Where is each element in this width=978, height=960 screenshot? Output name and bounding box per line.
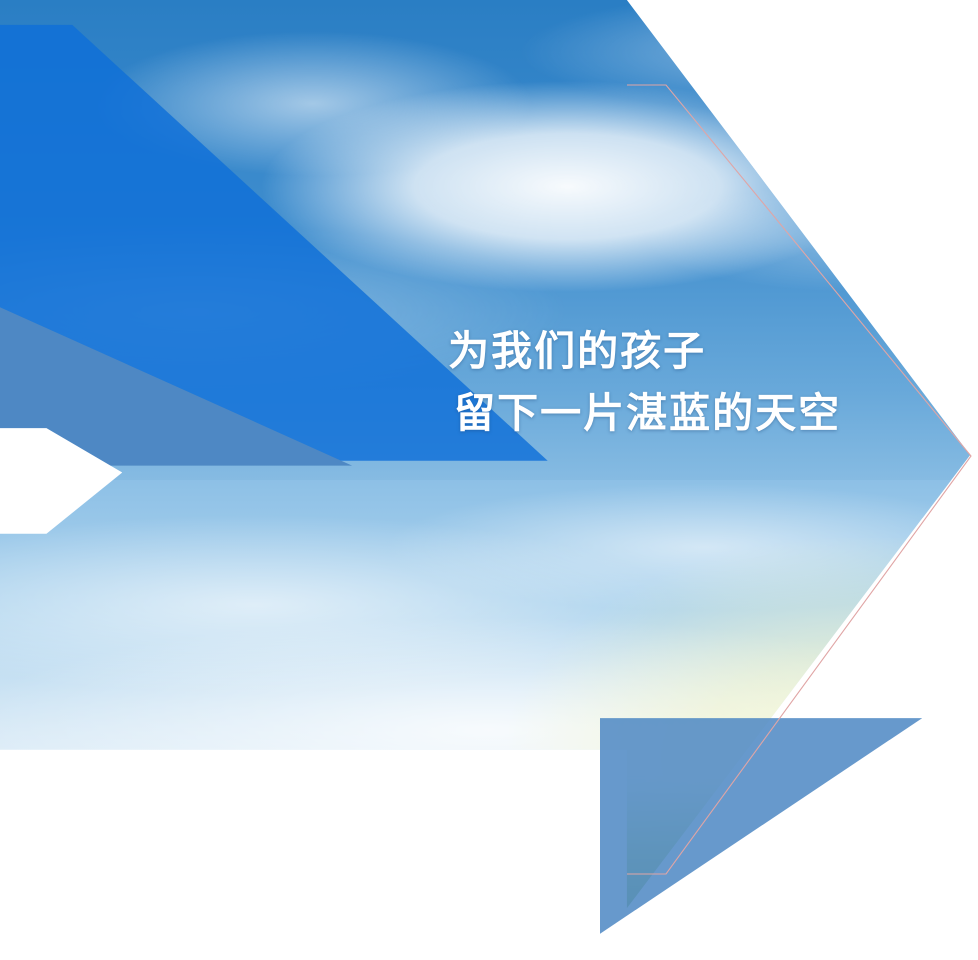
grass-blade [294, 736, 400, 960]
grass-blade [954, 538, 978, 960]
grass-blade [155, 856, 197, 960]
grass-blade [801, 835, 864, 960]
grass-blade [337, 821, 411, 960]
grass-blade [877, 867, 908, 960]
grass-blade [505, 860, 539, 960]
grass-blade [948, 836, 978, 960]
grass-blade [335, 727, 407, 960]
grass-blade [762, 862, 801, 960]
grass-blade [0, 565, 4, 960]
grass-blade [56, 862, 109, 960]
grass-blade [945, 738, 978, 960]
grass-blade [430, 822, 501, 960]
grass-blade [901, 787, 967, 960]
grass-blade [15, 845, 55, 960]
grass-blade [66, 872, 115, 960]
grass-blade [835, 599, 864, 960]
grass-blade [197, 851, 258, 960]
grass-blade [789, 835, 801, 960]
grass-blade [102, 725, 208, 960]
grass-blade [806, 761, 905, 960]
grass-blade [489, 759, 546, 960]
grass-blade [355, 782, 407, 960]
grass-blade [307, 756, 316, 960]
grass-blade [178, 732, 190, 960]
grass-blade [459, 547, 482, 960]
grass-blade [493, 598, 517, 960]
grass-blade [303, 607, 391, 960]
grass-blade [84, 538, 97, 960]
grass-blade [400, 848, 410, 960]
grass-blade [24, 804, 77, 960]
grass-blade [280, 865, 317, 960]
grass-blade [13, 691, 134, 960]
grass-blade [515, 716, 599, 960]
grass-blade [899, 852, 944, 960]
grass-blade [553, 800, 570, 960]
grass-blade [962, 875, 978, 960]
grass-blade [133, 822, 176, 960]
grass-blade [246, 667, 333, 960]
grass-blade [396, 850, 433, 960]
promo-banner: 为我们的孩子 留下一片湛蓝的天空 [0, 0, 978, 960]
grass-blade [168, 588, 263, 960]
grass-blade [904, 819, 969, 960]
grass-blade [18, 552, 133, 960]
grass-blade [179, 874, 228, 960]
grass-blade [302, 872, 355, 960]
grass-blade [90, 773, 152, 960]
grass-blade [883, 778, 904, 960]
grass-blade [859, 564, 978, 960]
grass-blade [271, 858, 277, 960]
grass-blade [323, 538, 338, 960]
grass-blade [811, 820, 880, 960]
grass-blade [29, 867, 37, 960]
grass-blade [0, 749, 68, 960]
grass-blade [906, 612, 978, 960]
grass-blade [920, 612, 978, 960]
grass-blade [226, 804, 271, 960]
grass-blade [712, 862, 772, 960]
grass-blade [547, 861, 598, 960]
grass-blade [509, 834, 525, 960]
grass-blade [899, 558, 978, 960]
grass-blade [449, 543, 553, 960]
grass-blade [532, 870, 571, 960]
grass-blade [0, 794, 36, 960]
grass-blade [122, 669, 135, 960]
grass-blade [221, 750, 289, 960]
grass-blade [313, 837, 382, 960]
grass-blade [241, 554, 416, 960]
grass-blade [416, 779, 428, 960]
grass-blade [477, 839, 541, 960]
grass-blade [439, 868, 489, 960]
grass-blade [103, 782, 188, 960]
grass-blade [851, 870, 904, 960]
grass-blade [221, 802, 304, 960]
headline-line-2: 留下一片湛蓝的天空 [0, 382, 841, 444]
grass-blade [261, 838, 298, 960]
grass-blade [145, 713, 257, 960]
grass-blade [137, 864, 148, 960]
grass-blade [392, 870, 426, 960]
grass-blade [117, 822, 163, 960]
grass-blade [919, 723, 976, 960]
grass-blade [131, 642, 227, 960]
grass-blade [0, 667, 25, 960]
chevron-steel-lower [600, 718, 923, 934]
page-title: 为我们的孩子 留下一片湛蓝的天空 [0, 320, 841, 445]
grass-blade [44, 707, 55, 960]
grass-blade [772, 799, 786, 960]
grass-blade [414, 760, 505, 960]
grass-blade [290, 615, 449, 960]
grass-blade [0, 553, 162, 960]
headline-line-1: 为我们的孩子 [0, 320, 841, 382]
grass-base [0, 783, 978, 960]
grass-blade [957, 622, 978, 960]
grass-blade [768, 869, 796, 960]
grass-blade [970, 660, 978, 960]
grass-blade [929, 848, 948, 960]
